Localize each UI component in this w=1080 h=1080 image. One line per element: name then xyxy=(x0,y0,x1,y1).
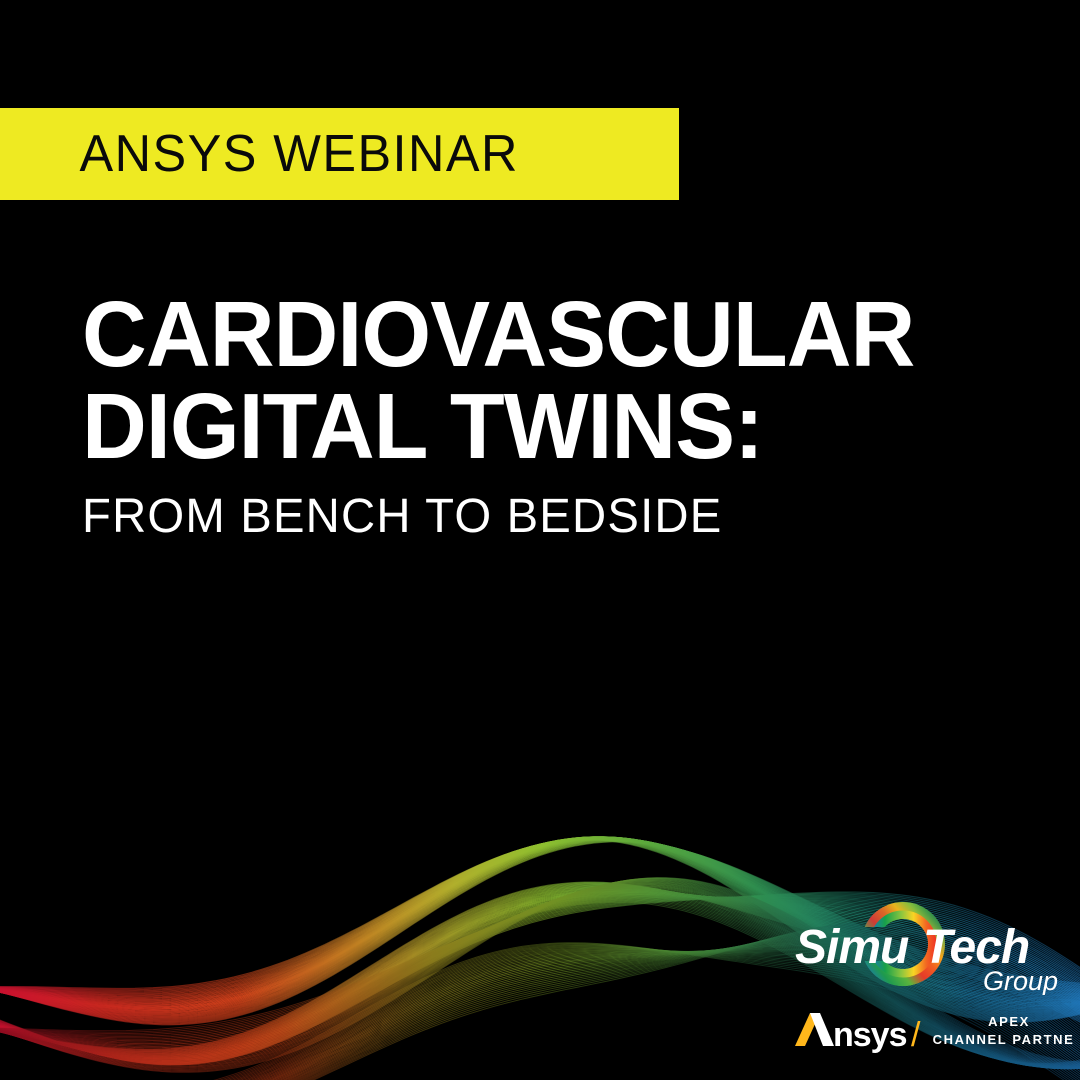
page-title-line-2: DIGITAL TWINS: xyxy=(82,380,1008,472)
page-title-line-1: CARDIOVASCULAR xyxy=(82,288,1008,380)
eyebrow-banner: ANSYS WEBINAR xyxy=(0,108,679,200)
webinar-poster: ANSYS WEBINAR CARDIOVASCULAR DIGITAL TWI… xyxy=(0,0,1080,1080)
ansys-divider-slash: / xyxy=(911,1016,921,1054)
ansys-wordmark: nsys xyxy=(833,1016,907,1054)
partner-line-1: APEX xyxy=(988,1014,1030,1029)
partner-line-2: CHANNEL PARTNER xyxy=(933,1032,1075,1047)
page-title: CARDIOVASCULAR DIGITAL TWINS: xyxy=(82,288,1042,472)
eyebrow-label: ANSYS WEBINAR xyxy=(0,128,519,180)
page-subtitle: FROM BENCH TO BEDSIDE xyxy=(82,493,722,541)
ansys-channel-partner-lockup: nsys / APEX CHANNEL PARTNER xyxy=(793,1008,1075,1056)
simutech-word-group: Group xyxy=(983,966,1058,995)
simutech-word-simu: Simu xyxy=(795,921,909,974)
ansys-a-stroke xyxy=(810,1013,834,1046)
simutech-group-logo: Simu Tech Group xyxy=(795,893,1060,995)
